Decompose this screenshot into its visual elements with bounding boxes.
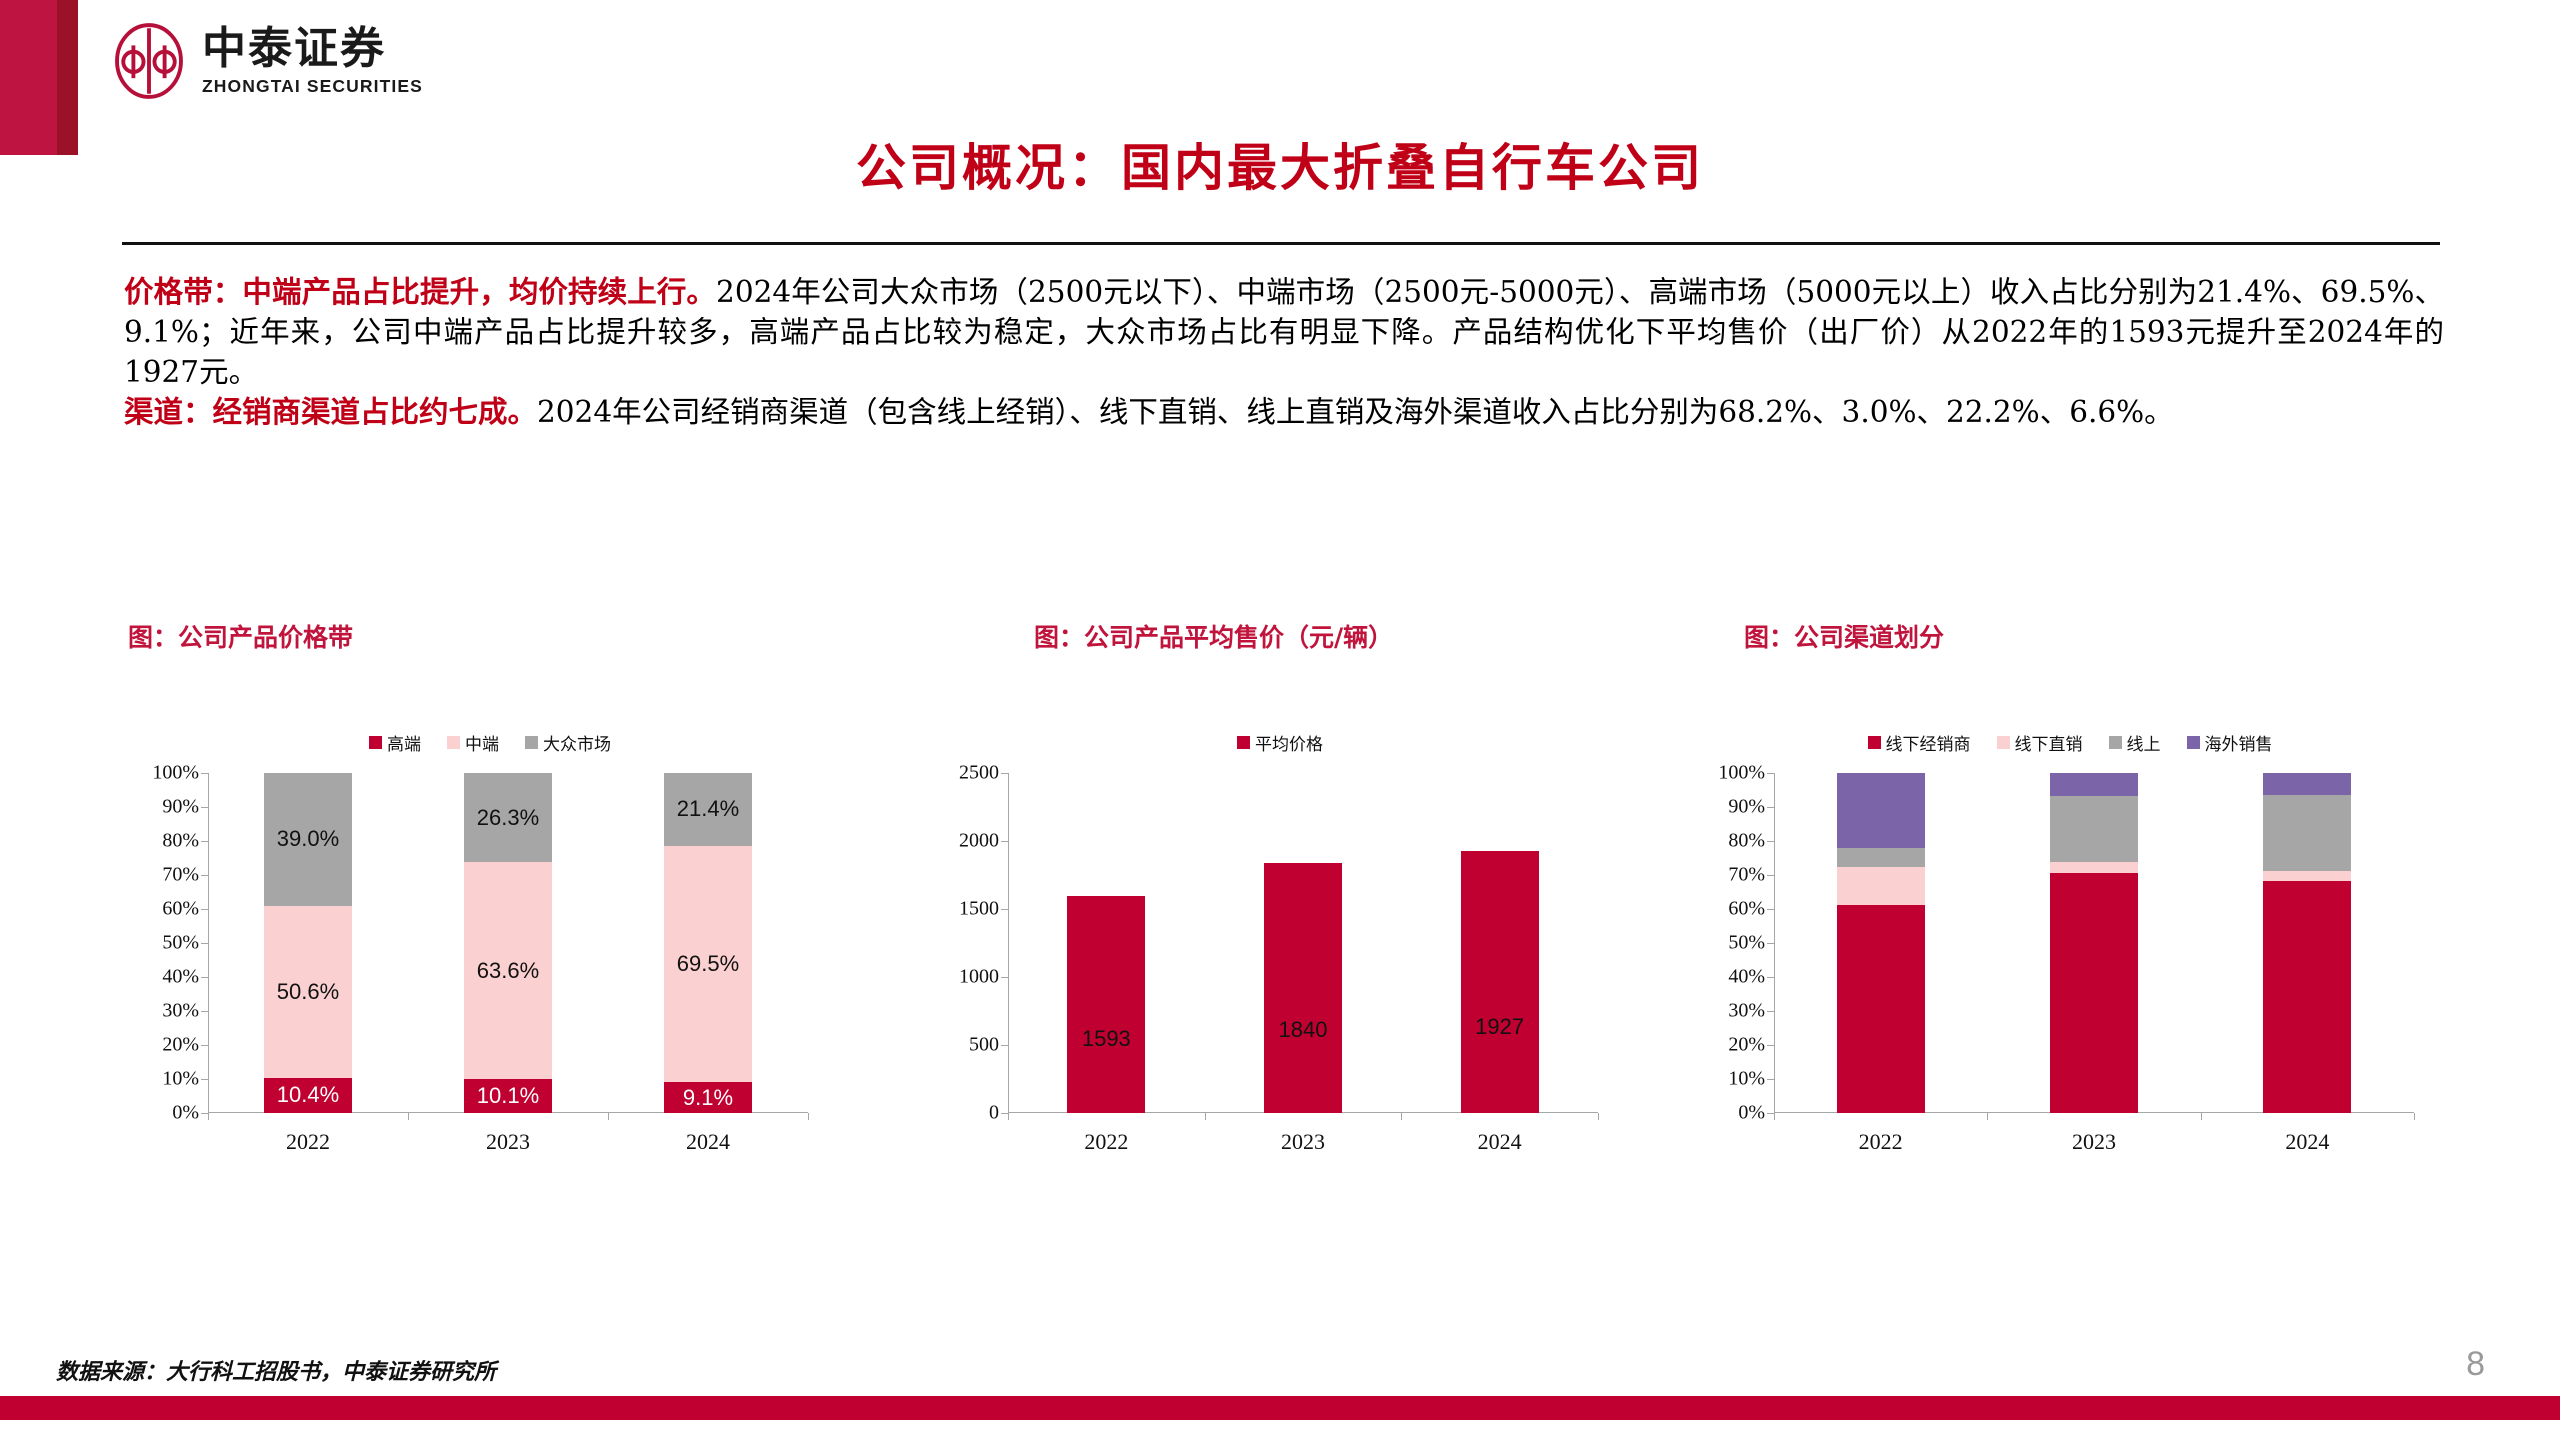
y-tick: [1767, 943, 1774, 944]
x-tick: [1401, 1113, 1402, 1120]
y-tick: [1767, 773, 1774, 774]
bar-segment-大众市场: 39.0%: [264, 773, 352, 906]
bar-value-label: 10.1%: [464, 1083, 552, 1109]
y-tick: [201, 1079, 208, 1080]
bar-segment-线下经销商: [2263, 881, 2351, 1113]
y-tick: [201, 875, 208, 876]
brand-name-cn: 中泰证券: [202, 27, 423, 71]
y-tick: [1001, 1113, 1008, 1114]
bar-segment-线下直销: [2263, 871, 2351, 881]
y-tick: [1767, 841, 1774, 842]
y-tick: [1001, 1045, 1008, 1046]
chart-title-channels: 图：公司渠道划分: [1744, 618, 1944, 654]
x-category-label: 2022: [1084, 1129, 1128, 1155]
bar-channels-2024[interactable]: [2263, 773, 2351, 1113]
y-tick: [1767, 1045, 1774, 1046]
y-tick: [1001, 977, 1008, 978]
body-text: 价格带：中端产品占比提升，均价持续上行。2024年公司大众市场（2500元以下）…: [124, 272, 2444, 432]
plot-area-price-band: 0%10%20%30%40%50%60%70%80%90%100%10.4%50…: [208, 773, 808, 1113]
y-axis: [1008, 773, 1009, 1113]
y-tick-label: 100%: [1718, 762, 1774, 785]
y-tick: [201, 1045, 208, 1046]
bar-value-label: 9.1%: [664, 1085, 752, 1111]
bar-value-label: 1840: [1264, 1017, 1342, 1043]
bar-avg-price-2023[interactable]: 1840: [1264, 773, 1342, 1113]
y-tick: [1001, 773, 1008, 774]
legend-label: 线下直销: [2015, 730, 2083, 755]
y-tick: [1767, 909, 1774, 910]
y-axis: [1774, 773, 1775, 1113]
bar-channels-2023[interactable]: [2050, 773, 2138, 1113]
x-tick: [2201, 1113, 2202, 1120]
legend-price-band: 高端中端大众市场: [140, 725, 840, 759]
legend-label: 平均价格: [1255, 730, 1323, 755]
bar-segment-高端: 9.1%: [664, 1082, 752, 1113]
legend-label: 海外销售: [2205, 730, 2273, 755]
paragraph-channel-rest: 2024年公司经销商渠道（包含线上经销）、线下直销、线上直销及海外渠道收入占比分…: [537, 395, 2174, 429]
bar-segment-平均价格: 1840: [1264, 863, 1342, 1113]
legend-label: 大众市场: [543, 730, 611, 755]
chart-title-price-band: 图：公司产品价格带: [128, 618, 353, 654]
x-tick: [1008, 1113, 1009, 1120]
paragraph-channel: 渠道：经销商渠道占比约七成。2024年公司经销商渠道（包含线上经销）、线下直销、…: [124, 392, 2444, 432]
paragraph-price-band-lead: 价格带：中端产品占比提升，均价持续上行。: [124, 274, 716, 309]
y-tick: [1767, 977, 1774, 978]
bar-value-label: 63.6%: [464, 958, 552, 984]
bar-segment-中端: 63.6%: [464, 862, 552, 1078]
bar-value-label: 69.5%: [664, 951, 752, 977]
bar-segment-海外销售: [2263, 773, 2351, 795]
legend-item-price-band-2[interactable]: 大众市场: [525, 730, 611, 755]
x-category-label: 2022: [286, 1129, 330, 1155]
bar-segment-线下直销: [1837, 867, 1925, 905]
y-tick: [1767, 1113, 1774, 1114]
y-tick: [1001, 841, 1008, 842]
page-number: 8: [2466, 1345, 2485, 1384]
legend-item-channels-0[interactable]: 线下经销商: [1868, 730, 1971, 755]
bar-price-band-2024[interactable]: 9.1%69.5%21.4%: [664, 773, 752, 1113]
bar-channels-2022[interactable]: [1837, 773, 1925, 1113]
page-title: 公司概况：国内最大折叠自行车公司: [0, 128, 2560, 200]
plot-area-channels: 0%10%20%30%40%50%60%70%80%90%100%2022202…: [1774, 773, 2414, 1113]
bar-price-band-2022[interactable]: 10.4%50.6%39.0%: [264, 773, 352, 1113]
y-tick: [1767, 807, 1774, 808]
bar-segment-平均价格: 1593: [1067, 896, 1145, 1113]
paragraph-channel-lead: 渠道：经销商渠道占比约七成。: [124, 394, 537, 429]
y-tick: [201, 977, 208, 978]
x-tick: [1774, 1113, 1775, 1120]
legend-label: 中端: [465, 730, 499, 755]
legend-item-channels-2[interactable]: 线上: [2109, 730, 2161, 755]
x-tick: [208, 1113, 209, 1120]
bar-avg-price-2022[interactable]: 1593: [1067, 773, 1145, 1113]
legend-swatch-icon: [2109, 736, 2122, 749]
y-tick: [1767, 875, 1774, 876]
x-category-label: 2024: [2285, 1129, 2329, 1155]
x-category-label: 2024: [1478, 1129, 1522, 1155]
x-category-label: 2022: [1859, 1129, 1903, 1155]
legend-channels: 线下经销商线下直销线上海外销售: [1690, 725, 2450, 759]
footer-bar: [0, 1396, 2560, 1420]
y-tick: [201, 841, 208, 842]
y-tick: [201, 1113, 208, 1114]
x-tick: [1987, 1113, 1988, 1120]
x-tick: [1205, 1113, 1206, 1120]
bar-value-label: 1927: [1461, 1014, 1539, 1040]
bar-price-band-2023[interactable]: 10.1%63.6%26.3%: [464, 773, 552, 1113]
legend-item-avg-price-0[interactable]: 平均价格: [1237, 730, 1323, 755]
zhongtai-logo-icon: [110, 22, 188, 100]
bar-segment-高端: 10.1%: [464, 1079, 552, 1113]
y-tick: [201, 909, 208, 910]
legend-item-channels-3[interactable]: 海外销售: [2187, 730, 2273, 755]
bar-segment-中端: 50.6%: [264, 906, 352, 1078]
brand-name-en: ZHONGTAI SECURITIES: [202, 78, 423, 96]
legend-swatch-icon: [369, 736, 382, 749]
y-axis: [208, 773, 209, 1113]
x-category-label: 2023: [486, 1129, 530, 1155]
title-divider: [122, 242, 2440, 245]
legend-swatch-icon: [1997, 736, 2010, 749]
plot-area-avg-price: 0500100015002000250015932022184020231927…: [1008, 773, 1598, 1113]
bar-segment-高端: 10.4%: [264, 1078, 352, 1113]
bar-segment-中端: 69.5%: [664, 846, 752, 1082]
bar-value-label: 10.4%: [264, 1082, 352, 1108]
legend-swatch-icon: [525, 736, 538, 749]
legend-item-price-band-0[interactable]: 高端: [369, 730, 421, 755]
bar-segment-线上: [1837, 848, 1925, 867]
y-tick: [1767, 1011, 1774, 1012]
legend-swatch-icon: [447, 736, 460, 749]
bar-segment-海外销售: [2050, 773, 2138, 796]
legend-item-price-band-1[interactable]: 中端: [447, 730, 499, 755]
legend-label: 线下经销商: [1886, 730, 1971, 755]
legend-item-channels-1[interactable]: 线下直销: [1997, 730, 2083, 755]
bar-segment-线上: [2050, 796, 2138, 862]
legend-swatch-icon: [1237, 736, 1250, 749]
y-tick: [1001, 909, 1008, 910]
legend-label: 高端: [387, 730, 421, 755]
x-tick: [1598, 1113, 1599, 1120]
bar-segment-线下经销商: [2050, 873, 2138, 1113]
bar-value-label: 39.0%: [264, 826, 352, 852]
x-category-label: 2023: [2072, 1129, 2116, 1155]
x-category-label: 2023: [1281, 1129, 1325, 1155]
y-tick: [201, 773, 208, 774]
bar-segment-线下直销: [2050, 862, 2138, 873]
x-category-label: 2024: [686, 1129, 730, 1155]
bar-avg-price-2024[interactable]: 1927: [1461, 773, 1539, 1113]
chart-price-band: 高端中端大众市场 0%10%20%30%40%50%60%70%80%90%10…: [140, 725, 840, 1175]
paragraph-price-band: 价格带：中端产品占比提升，均价持续上行。2024年公司大众市场（2500元以下）…: [124, 272, 2444, 392]
bar-value-label: 50.6%: [264, 979, 352, 1005]
bar-segment-平均价格: 1927: [1461, 851, 1539, 1113]
brand-logo: 中泰证券 ZHONGTAI SECURITIES: [110, 22, 423, 100]
x-tick: [408, 1113, 409, 1120]
bar-segment-线上: [2263, 795, 2351, 870]
legend-avg-price: 平均价格: [930, 725, 1630, 759]
legend-label: 线上: [2127, 730, 2161, 755]
bar-value-label: 1593: [1067, 1026, 1145, 1052]
chart-channels: 线下经销商线下直销线上海外销售 0%10%20%30%40%50%60%70%8…: [1690, 725, 2450, 1175]
bar-segment-大众市场: 26.3%: [464, 773, 552, 862]
chart-avg-price: 平均价格 05001000150020002500159320221840202…: [930, 725, 1630, 1175]
y-tick: [1767, 1079, 1774, 1080]
bar-segment-大众市场: 21.4%: [664, 773, 752, 846]
y-tick: [201, 807, 208, 808]
bar-value-label: 21.4%: [664, 796, 752, 822]
bar-value-label: 26.3%: [464, 805, 552, 831]
bar-segment-海外销售: [1837, 773, 1925, 848]
x-tick: [808, 1113, 809, 1120]
y-tick-label: 100%: [152, 762, 208, 785]
chart-title-avg-price: 图：公司产品平均售价（元/辆）: [1034, 618, 1393, 654]
source-note: 数据来源：大行科工招股书，中泰证券研究所: [56, 1354, 496, 1386]
legend-swatch-icon: [1868, 736, 1881, 749]
legend-swatch-icon: [2187, 736, 2200, 749]
y-tick: [201, 1011, 208, 1012]
x-tick: [2414, 1113, 2415, 1120]
x-tick: [608, 1113, 609, 1120]
bar-segment-线下经销商: [1837, 905, 1925, 1113]
y-tick: [201, 943, 208, 944]
